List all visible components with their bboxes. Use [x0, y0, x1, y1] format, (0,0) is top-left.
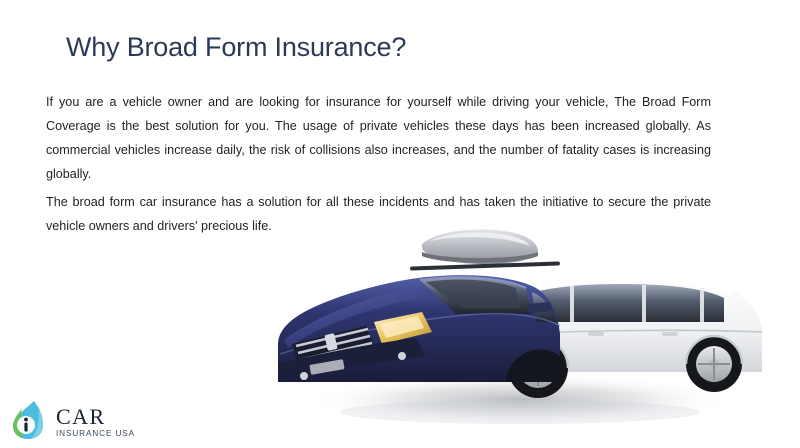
fog-lamp: [398, 352, 406, 360]
two-cars-photo: [270, 222, 770, 434]
water-drop-logo-icon: [8, 398, 52, 442]
logo-wordmark: CAR INSURANCE USA: [56, 402, 135, 438]
roof-cargo-box: [422, 230, 538, 264]
slide-canvas: Why Broad Form Insurance? If you are a v…: [0, 0, 800, 448]
blue-car: [278, 275, 560, 382]
page-title: Why Broad Form Insurance?: [66, 32, 406, 63]
door-handle: [662, 332, 678, 336]
logo-word-car: CAR: [56, 406, 135, 428]
car-insurance-usa-logo: CAR INSURANCE USA: [8, 396, 178, 444]
fog-lamp: [300, 372, 308, 380]
paragraph-text: If you are a vehicle owner and are looki…: [46, 90, 711, 186]
door-handle: [588, 332, 604, 336]
body-paragraph-1: If you are a vehicle owner and are looki…: [46, 90, 711, 186]
logo-word-insurance-usa: INSURANCE USA: [56, 430, 135, 438]
